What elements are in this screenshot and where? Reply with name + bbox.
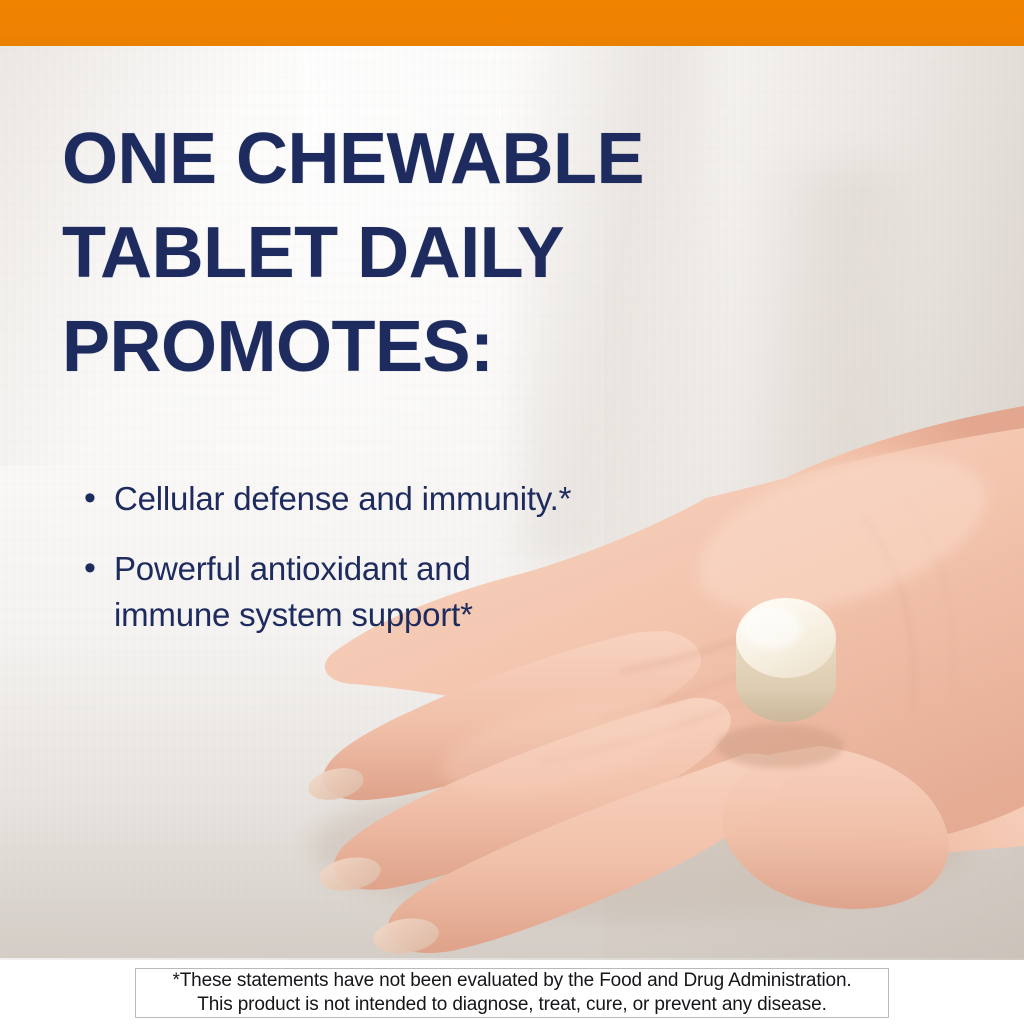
tablet-top-gloss: [742, 607, 802, 649]
page-title: ONE CHEWABLE TABLET DAILY PROMOTES:: [62, 112, 782, 394]
chewable-tablet: [736, 598, 836, 722]
bullet-dot-icon: •: [80, 546, 114, 590]
benefit-text: Cellular defense and immunity.*: [114, 476, 571, 522]
disclaimer-line-1: *These statements have not been evaluate…: [172, 969, 851, 993]
fda-disclaimer-box: *These statements have not been evaluate…: [135, 968, 889, 1018]
product-infographic-canvas: ONE CHEWABLE TABLET DAILY PROMOTES: • Ce…: [0, 0, 1024, 1024]
list-item: • Cellular defense and immunity.*: [80, 476, 740, 522]
bullet-dot-icon: •: [80, 476, 114, 520]
tablet-shadow: [716, 724, 844, 768]
hero-photo: ONE CHEWABLE TABLET DAILY PROMOTES: • Ce…: [0, 46, 1024, 958]
disclaimer-line-2: This product is not intended to diagnose…: [197, 993, 826, 1017]
footer-divider: [0, 958, 1024, 960]
disclaimer-footer: *These statements have not been evaluate…: [0, 958, 1024, 1024]
benefits-list: • Cellular defense and immunity.* • Powe…: [80, 476, 740, 662]
benefit-text: Powerful antioxidant and immune system s…: [114, 546, 473, 638]
list-item: • Powerful antioxidant and immune system…: [80, 546, 740, 638]
top-orange-accent-bar: [0, 0, 1024, 46]
